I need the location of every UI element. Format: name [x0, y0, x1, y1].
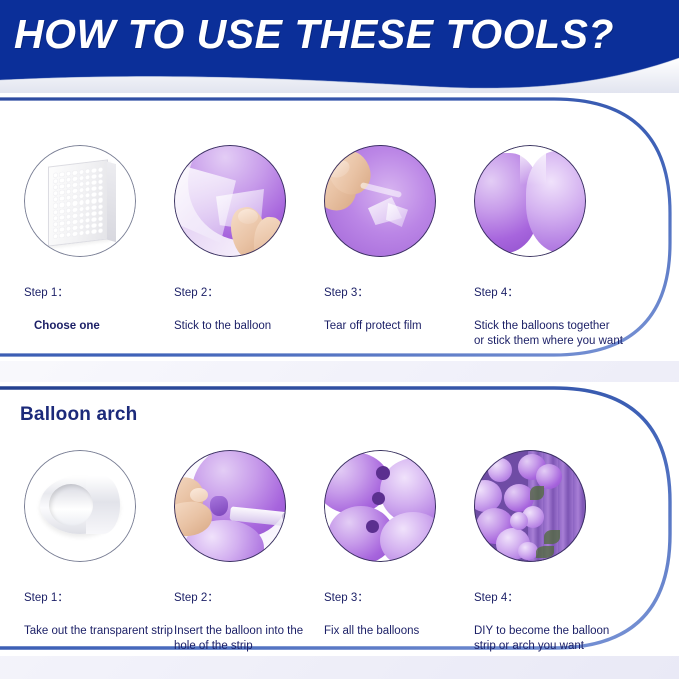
page-title: HOW TO USE THESE TOOLS? — [14, 8, 614, 60]
step-number: Step 3： — [324, 591, 474, 606]
step-image-peeling-film — [324, 145, 436, 257]
section-glue-dots: Step 1： Choose one — [0, 93, 679, 361]
step-image-finished-arch — [474, 450, 586, 562]
section-balloon-arch: Balloon arch Step 1： Take out the transp… — [0, 382, 679, 656]
step-description: Fix all the balloons — [324, 624, 474, 639]
step-description: Stick the balloons together or stick the… — [474, 319, 649, 349]
step-description: DIY to become the balloon strip or arch … — [474, 624, 644, 654]
step-description: Tear off protect film — [324, 319, 474, 334]
step-image-two-balloons-joined — [474, 145, 586, 257]
step-caption: Step 4： Stick the balloons together or s… — [474, 271, 649, 364]
step-image-inserting-balloon — [174, 450, 286, 562]
infographic-page: HOW TO USE THESE TOOLS? — [0, 0, 679, 679]
step-image-balloons-fixed — [324, 450, 436, 562]
step-image-glue-dot-sheet — [24, 145, 136, 257]
step-number: Step 4： — [474, 591, 644, 606]
step-caption: Step 3： Fix all the balloons — [324, 576, 474, 654]
step-number: Step 1： — [24, 591, 189, 606]
step-number: Step 2： — [174, 286, 324, 301]
step-caption: Step 3： Tear off protect film — [324, 271, 474, 349]
step-number: Step 1： — [24, 286, 174, 301]
step-caption: Step 1： Take out the transparent strip — [24, 576, 189, 654]
step-description: Insert the balloon into the hole of the … — [174, 624, 334, 654]
header-banner: HOW TO USE THESE TOOLS? — [0, 0, 679, 96]
step-caption: Step 2： Insert the balloon into the hole… — [174, 576, 334, 669]
step-description: Choose one — [24, 319, 174, 334]
step-number: Step 2： — [174, 591, 334, 606]
step-description: Take out the transparent strip — [24, 624, 189, 639]
step-image-hand-sticking-film — [174, 145, 286, 257]
section-title: Balloon arch — [20, 404, 137, 426]
step-image-transparent-strip-roll — [24, 450, 136, 562]
step-caption: Step 2： Stick to the balloon — [174, 271, 324, 349]
step-number: Step 4： — [474, 286, 649, 301]
step-caption: Step 1： Choose one — [24, 271, 174, 349]
step-caption: Step 4： DIY to become the balloon strip … — [474, 576, 644, 669]
step-description: Stick to the balloon — [174, 319, 324, 334]
step-number: Step 3： — [324, 286, 474, 301]
